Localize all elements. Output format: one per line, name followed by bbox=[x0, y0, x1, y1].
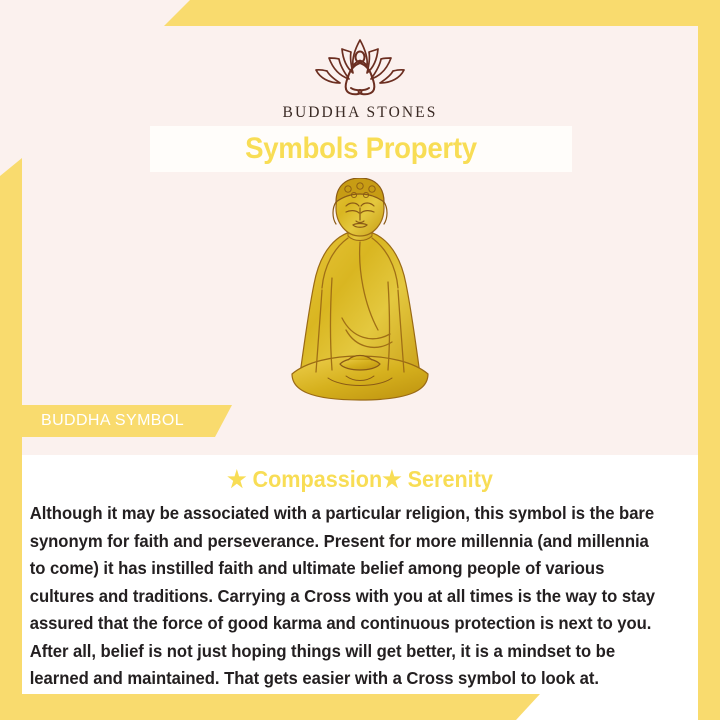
right-vertical-band-decor bbox=[698, 0, 720, 720]
content-card: ★ Compassion★ Serenity Although it may b… bbox=[22, 455, 698, 694]
lotus-meditation-icon bbox=[305, 32, 415, 98]
content-body-text: Although it may be associated with a par… bbox=[22, 493, 674, 693]
bottom-diagonal-band-decor bbox=[0, 694, 560, 720]
title-banner: Symbols Property bbox=[150, 126, 572, 172]
brand-name: BUDDHA STONES bbox=[283, 104, 438, 122]
golden-seated-buddha-illustration bbox=[260, 178, 460, 410]
brand-header: BUDDHA STONES bbox=[22, 26, 698, 120]
page-title: Symbols Property bbox=[245, 132, 477, 166]
content-subheading: ★ Compassion★ Serenity bbox=[42, 455, 677, 493]
poster-root: BUDDHA STONES Symbols Property bbox=[0, 0, 720, 720]
symbol-tag-label: BUDDHA SYMBOL bbox=[41, 412, 184, 430]
symbol-category-tag: BUDDHA SYMBOL bbox=[22, 405, 232, 437]
